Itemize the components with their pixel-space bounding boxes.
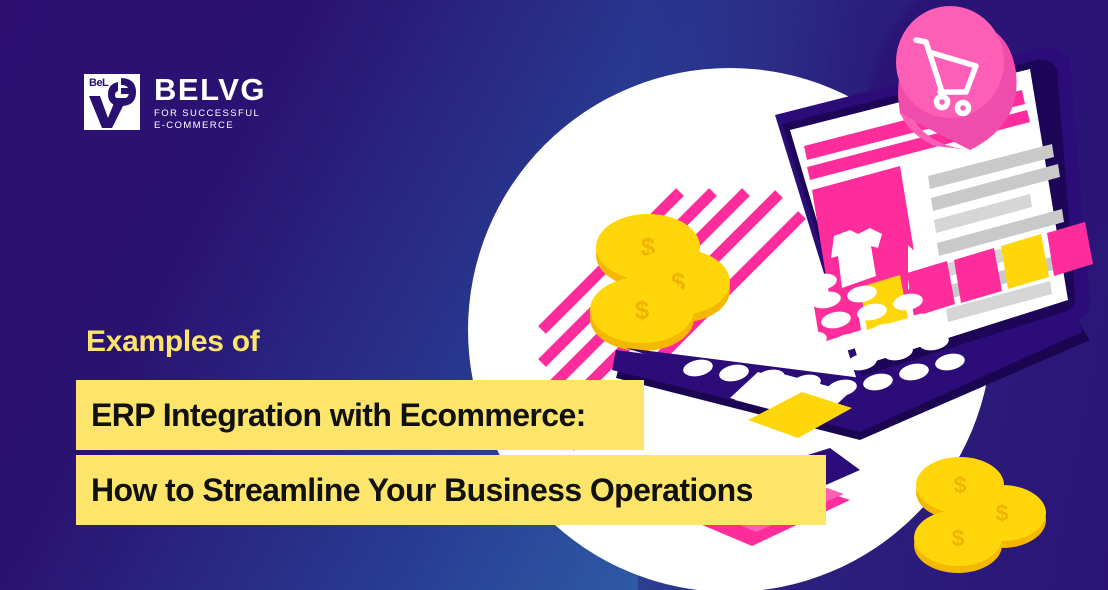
promo-banner: $ $ $	[0, 0, 1108, 590]
logo-wordmark: BELVG FOR SUCCESSFUL E-COMMERCE	[154, 74, 266, 130]
headline-line-1-text: ERP Integration with Ecommerce:	[91, 397, 586, 434]
logo-name: BELVG	[154, 74, 266, 105]
logo-tagline-2: E-COMMERCE	[154, 121, 266, 131]
svg-text:$: $	[996, 500, 1009, 526]
headline-line-2-text: How to Streamline Your Business Operatio…	[91, 472, 753, 509]
svg-text:$: $	[954, 472, 967, 498]
svg-text:$: $	[952, 525, 965, 551]
logo-tagline-1: FOR SUCCESSFUL	[154, 109, 266, 119]
headline-line-1: ERP Integration with Ecommerce:	[76, 380, 644, 450]
headline-line-2: How to Streamline Your Business Operatio…	[76, 455, 826, 525]
headline-kicker: Examples of	[86, 325, 259, 359]
logo-mark-icon: BeL	[84, 74, 140, 130]
belvg-logo[interactable]: BeL BELVG FOR SUCCESSFUL E-COMMERCE	[84, 74, 266, 130]
svg-text:$: $	[635, 295, 650, 325]
shopping-cart-pin	[896, 6, 1017, 150]
gold-coins-right: $ $ $	[914, 457, 1046, 573]
